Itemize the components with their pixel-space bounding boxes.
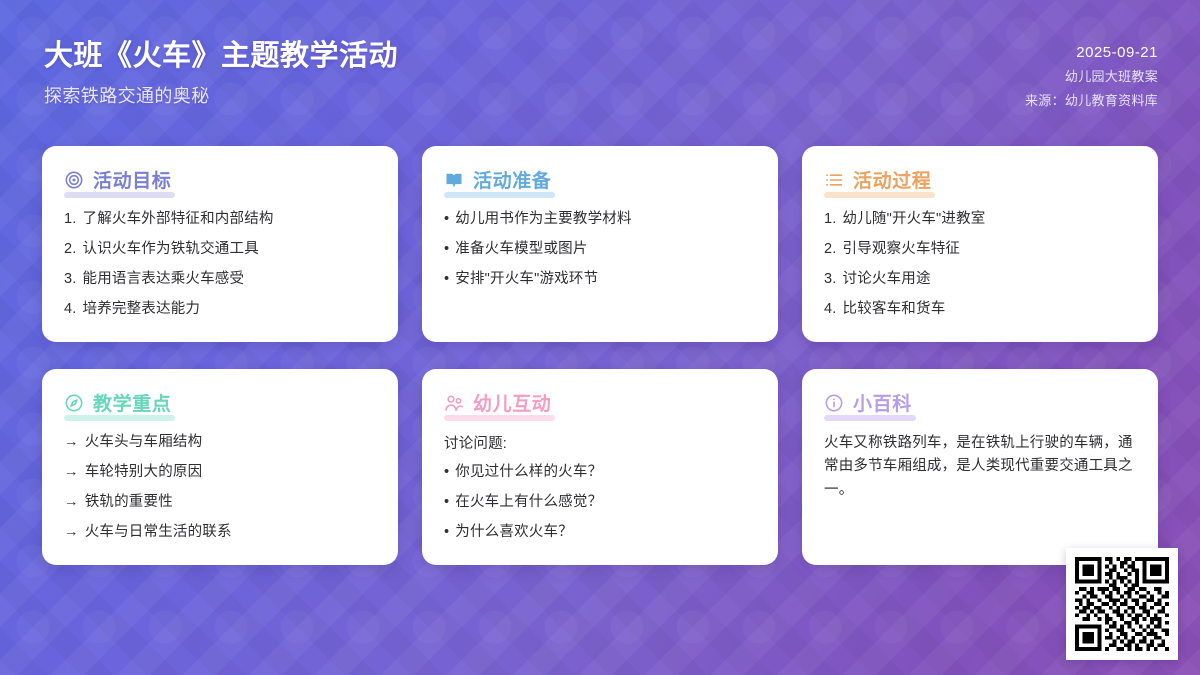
list-item: →火车头与车厢结构 <box>64 432 376 453</box>
slide-header: 大班《火车》主题教学活动 探索铁路交通的奥秘 2025-09-21 幼儿园大班教… <box>0 0 1200 135</box>
list-item: 2.认识火车作为铁轨交通工具 <box>64 239 376 260</box>
card-header: 小百科 <box>824 389 912 421</box>
page-subtitle: 探索铁路交通的奥秘 <box>44 82 398 108</box>
card-body: 1.了解火车外部特征和内部结构2.认识火车作为铁轨交通工具3.能用语言表达乘火车… <box>64 209 376 320</box>
card-title: 活动过程 <box>853 166 931 193</box>
list-item: 1.了解火车外部特征和内部结构 <box>64 209 376 230</box>
slide-root: 大班《火车》主题教学活动 探索铁路交通的奥秘 2025-09-21 幼儿园大班教… <box>0 0 1200 675</box>
meta-source: 来源：幼儿教育资料库 <box>1025 90 1158 109</box>
list-marker: 4. <box>64 299 77 320</box>
list-marker: → <box>64 462 79 483</box>
card-title: 教学重点 <box>93 389 171 416</box>
list-marker: 1. <box>64 209 77 230</box>
card-header: 活动目标 <box>64 166 171 198</box>
list-marker: 3. <box>64 269 77 290</box>
header-left: 大班《火车》主题教学活动 探索铁路交通的奥秘 <box>44 38 398 108</box>
card-body: 1.幼儿随"开火车"进教室2.引导观察火车特征3.讨论火车用途4.比较客车和货车 <box>824 209 1136 320</box>
list-item-text: 引导观察火车特征 <box>843 239 961 260</box>
card-title: 小百科 <box>853 389 912 416</box>
target-icon <box>64 170 84 190</box>
list-item-text: 你见过什么样的火车？ <box>455 462 602 483</box>
compass-icon <box>64 393 84 413</box>
list-item: 4.培养完整表达能力 <box>64 299 376 320</box>
card-活动过程: 活动过程1.幼儿随"开火车"进教室2.引导观察火车特征3.讨论火车用途4.比较客… <box>802 146 1158 342</box>
list-item: •为什么喜欢火车？ <box>444 522 756 543</box>
list-item-text: 铁轨的重要性 <box>85 492 173 513</box>
card-title: 活动准备 <box>473 166 551 193</box>
meta-category: 幼儿园大班教案 <box>1065 66 1158 85</box>
list-item-text: 了解火车外部特征和内部结构 <box>83 209 274 230</box>
card-活动准备: 活动准备•幼儿用书作为主要教学材料•准备火车模型或图片•安排"开火车"游戏环节 <box>422 146 778 342</box>
users-icon <box>444 393 464 413</box>
card-活动目标: 活动目标1.了解火车外部特征和内部结构2.认识火车作为铁轨交通工具3.能用语言表… <box>42 146 398 342</box>
card-header: 活动过程 <box>824 166 931 198</box>
list-marker: 2. <box>64 239 77 260</box>
list-item: →铁轨的重要性 <box>64 492 376 513</box>
card-header: 活动准备 <box>444 166 551 198</box>
card-body: 讨论问题:•你见过什么样的火车？•在火车上有什么感觉？•为什么喜欢火车？ <box>444 432 756 543</box>
list-item-text: 比较客车和货车 <box>843 299 946 320</box>
list-item: •幼儿用书作为主要教学材料 <box>444 209 756 230</box>
list-item-text: 能用语言表达乘火车感受 <box>83 269 245 290</box>
card-教学重点: 教学重点→火车头与车厢结构→车轮特别大的原因→铁轨的重要性→火车与日常生活的联系 <box>42 369 398 565</box>
list-item-text: 火车与日常生活的联系 <box>85 522 232 543</box>
list-marker: • <box>444 492 449 513</box>
page-title: 大班《火车》主题教学活动 <box>44 38 398 74</box>
list-item: 3.讨论火车用途 <box>824 269 1136 290</box>
card-header: 幼儿互动 <box>444 389 551 421</box>
list-item: 2.引导观察火车特征 <box>824 239 1136 260</box>
card-header: 教学重点 <box>64 389 171 421</box>
list-marker: • <box>444 239 449 260</box>
list-item: •在火车上有什么感觉？ <box>444 492 756 513</box>
list-item-text: 认识火车作为铁轨交通工具 <box>83 239 259 260</box>
list-marker: → <box>64 432 79 453</box>
list-item-text: 车轮特别大的原因 <box>85 462 203 483</box>
card-body: •幼儿用书作为主要教学材料•准备火车模型或图片•安排"开火车"游戏环节 <box>444 209 756 290</box>
card-intro: 讨论问题: <box>444 432 756 453</box>
meta-date: 2025-09-21 <box>1076 44 1158 61</box>
list-marker: 2. <box>824 239 837 260</box>
card-body: →火车头与车厢结构→车轮特别大的原因→铁轨的重要性→火车与日常生活的联系 <box>64 432 376 543</box>
list-marker: → <box>64 492 79 513</box>
list-item: •你见过什么样的火车？ <box>444 462 756 483</box>
list-marker: • <box>444 522 449 543</box>
info-icon <box>824 393 844 413</box>
list-icon <box>824 170 844 190</box>
list-item: →火车与日常生活的联系 <box>64 522 376 543</box>
book-icon <box>444 170 464 190</box>
header-meta: 2025-09-21 幼儿园大班教案 来源：幼儿教育资料库 <box>1025 38 1158 109</box>
card-body: 火车又称铁路列车，是在铁轨上行驶的车辆，通常由多节车厢组成，是人类现代重要交通工… <box>824 432 1136 502</box>
list-item-text: 准备火车模型或图片 <box>455 239 587 260</box>
card-小百科: 小百科火车又称铁路列车，是在铁轨上行驶的车辆，通常由多节车厢组成，是人类现代重要… <box>802 369 1158 565</box>
card-title: 活动目标 <box>93 166 171 193</box>
qr-code-container[interactable] <box>1066 548 1178 660</box>
card-grid: 活动目标1.了解火车外部特征和内部结构2.认识火车作为铁轨交通工具3.能用语言表… <box>42 146 1158 565</box>
list-item-text: 培养完整表达能力 <box>83 299 201 320</box>
list-marker: → <box>64 522 79 543</box>
list-item: →车轮特别大的原因 <box>64 462 376 483</box>
list-item: 3.能用语言表达乘火车感受 <box>64 269 376 290</box>
list-marker: • <box>444 209 449 230</box>
list-marker: 1. <box>824 209 837 230</box>
list-item-text: 安排"开火车"游戏环节 <box>455 269 598 290</box>
list-item-text: 讨论火车用途 <box>843 269 931 290</box>
list-marker: 3. <box>824 269 837 290</box>
card-title: 幼儿互动 <box>473 389 551 416</box>
list-item-text: 火车头与车厢结构 <box>85 432 203 453</box>
list-marker: 4. <box>824 299 837 320</box>
list-item-text: 幼儿用书作为主要教学材料 <box>455 209 631 230</box>
list-item-text: 为什么喜欢火车？ <box>455 522 573 543</box>
list-marker: • <box>444 462 449 483</box>
list-item: 1.幼儿随"开火车"进教室 <box>824 209 1136 230</box>
list-item: •准备火车模型或图片 <box>444 239 756 260</box>
list-item-text: 幼儿随"开火车"进教室 <box>843 209 986 230</box>
list-item: 4.比较客车和货车 <box>824 299 1136 320</box>
card-paragraph: 火车又称铁路列车，是在铁轨上行驶的车辆，通常由多节车厢组成，是人类现代重要交通工… <box>824 432 1136 502</box>
card-幼儿互动: 幼儿互动讨论问题:•你见过什么样的火车？•在火车上有什么感觉？•为什么喜欢火车？ <box>422 369 778 565</box>
list-marker: • <box>444 269 449 290</box>
list-item: •安排"开火车"游戏环节 <box>444 269 756 290</box>
list-item-text: 在火车上有什么感觉？ <box>455 492 602 513</box>
qr-code <box>1075 557 1169 651</box>
